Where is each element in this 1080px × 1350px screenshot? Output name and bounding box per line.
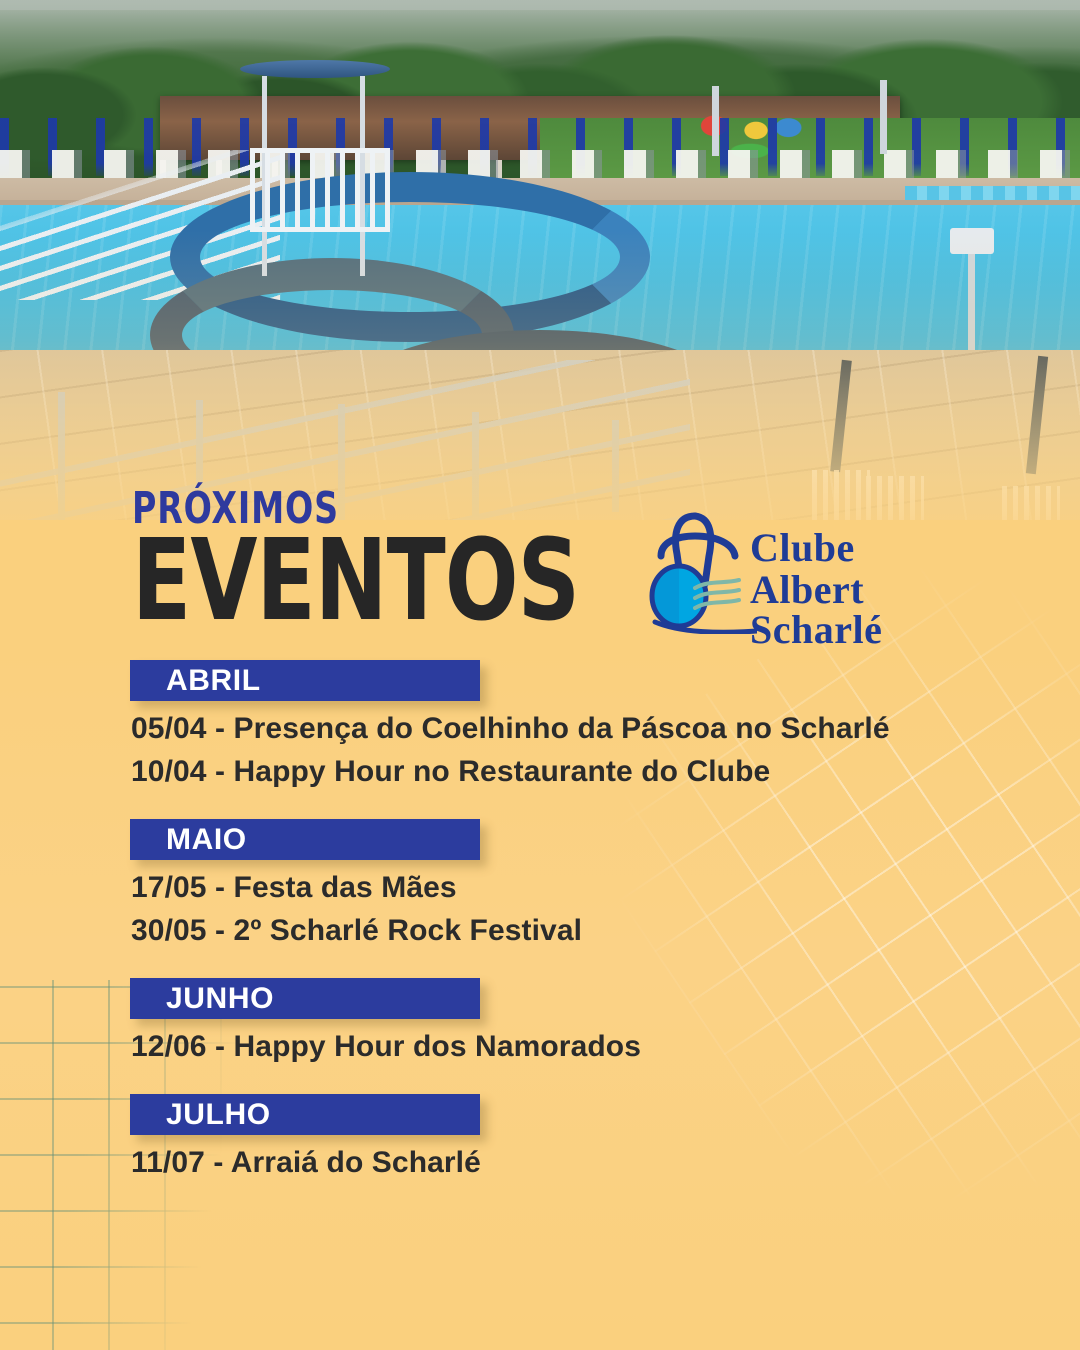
- month-block-abril: ABRIL 05/04 - Presença do Coelhinho da P…: [0, 660, 1080, 787]
- rail-post: [58, 392, 65, 520]
- logo-wordmark: Clube Albert Scharlé: [750, 528, 985, 650]
- event-list-julho: 11/07 - Arraiá do Scharlé: [0, 1135, 1080, 1178]
- event-item: 17/05 - Festa das Mães: [131, 860, 1080, 903]
- club-logo: Clube Albert Scharlé: [655, 500, 985, 632]
- month-badge-julho: JULHO: [130, 1094, 480, 1135]
- light-pole: [968, 240, 975, 360]
- floodlight-head: [950, 228, 994, 254]
- month-block-junho: JUNHO 12/06 - Happy Hour dos Namorados: [0, 978, 1080, 1062]
- hero-photo: [0, 0, 1080, 520]
- light-pole: [712, 86, 719, 156]
- event-item: 05/04 - Presença do Coelhinho da Páscoa …: [131, 701, 1080, 744]
- page-title-group: PRÓXIMOS EVENTOS: [132, 488, 652, 630]
- event-list-maio: 17/05 - Festa das Mães 30/05 - 2º Scharl…: [0, 860, 1080, 946]
- slide-tower: [250, 60, 380, 310]
- tower-railing: [250, 148, 390, 232]
- event-poster: PRÓXIMOS EVENTOS Clube Albert Scharlé AB…: [0, 0, 1080, 1350]
- patio-chair: [1002, 486, 1060, 520]
- logo-mark-icon: [647, 504, 757, 634]
- event-item: 30/05 - 2º Scharlé Rock Festival: [131, 903, 1080, 946]
- month-label: ABRIL: [166, 664, 261, 698]
- month-label: MAIO: [166, 823, 247, 857]
- event-item: 10/04 - Happy Hour no Restaurante do Clu…: [131, 744, 1080, 787]
- month-block-julho: JULHO 11/07 - Arraiá do Scharlé: [0, 1094, 1080, 1178]
- light-pole: [880, 80, 887, 154]
- month-badge-maio: MAIO: [130, 819, 480, 860]
- event-list-junho: 12/06 - Happy Hour dos Namorados: [0, 1019, 1080, 1062]
- events-schedule: ABRIL 05/04 - Presença do Coelhinho da P…: [0, 660, 1080, 1182]
- event-item: 12/06 - Happy Hour dos Namorados: [131, 1019, 1080, 1062]
- month-label: JUNHO: [166, 982, 274, 1016]
- event-item: 11/07 - Arraiá do Scharlé: [131, 1135, 1080, 1178]
- month-badge-junho: JUNHO: [130, 978, 480, 1019]
- month-block-maio: MAIO 17/05 - Festa das Mães 30/05 - 2º S…: [0, 819, 1080, 946]
- logo-line-2: Albert Scharlé: [750, 570, 985, 650]
- month-label: JULHO: [166, 1098, 271, 1132]
- event-list-abril: 05/04 - Presença do Coelhinho da Páscoa …: [0, 701, 1080, 787]
- logo-line-1: Clube: [750, 528, 985, 568]
- page-title: EVENTOS: [132, 532, 579, 631]
- month-badge-abril: ABRIL: [130, 660, 480, 701]
